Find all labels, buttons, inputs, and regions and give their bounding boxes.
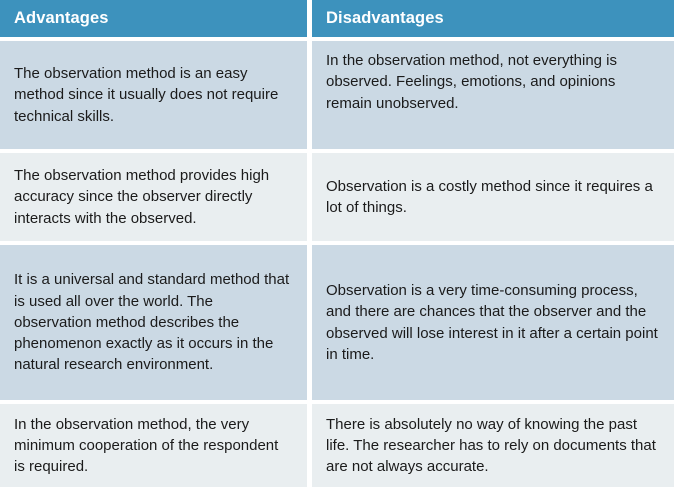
column-header-advantages-label: Advantages [14, 9, 109, 28]
cell-advantages: The observation method provides high acc… [0, 153, 307, 241]
cell-advantages: It is a universal and standard method th… [0, 245, 307, 400]
cell-advantages: In the observation method, the very mini… [0, 404, 307, 487]
table-row: The observation method is an easy method… [0, 41, 674, 149]
table-header-row: Advantages Disadvantages [0, 0, 674, 37]
cell-disadvantages-text: Observation is a costly method since it … [326, 176, 658, 219]
column-header-advantages: Advantages [0, 0, 307, 37]
table-row: In the observation method, the very mini… [0, 404, 674, 487]
cell-disadvantages: In the observation method, not everythin… [312, 41, 674, 149]
cell-advantages-text: The observation method provides high acc… [14, 165, 291, 229]
cell-disadvantages: There is absolutely no way of knowing th… [312, 404, 674, 487]
comparison-table: Advantages Disadvantages The observation… [0, 0, 674, 479]
column-header-disadvantages-label: Disadvantages [326, 9, 444, 28]
cell-advantages-text: In the observation method, the very mini… [14, 414, 291, 478]
table-row: The observation method provides high acc… [0, 153, 674, 241]
cell-disadvantages-text: There is absolutely no way of knowing th… [326, 414, 658, 478]
cell-disadvantages-text: Observation is a very time-consuming pro… [326, 280, 658, 365]
cell-advantages-text: It is a universal and standard method th… [14, 269, 291, 375]
table-row: It is a universal and standard method th… [0, 245, 674, 400]
cell-disadvantages-text: In the observation method, not everythin… [326, 50, 658, 114]
column-header-disadvantages: Disadvantages [312, 0, 674, 37]
cell-advantages: The observation method is an easy method… [0, 41, 307, 149]
cell-disadvantages: Observation is a costly method since it … [312, 153, 674, 241]
cell-disadvantages: Observation is a very time-consuming pro… [312, 245, 674, 400]
cell-advantages-text: The observation method is an easy method… [14, 63, 291, 127]
